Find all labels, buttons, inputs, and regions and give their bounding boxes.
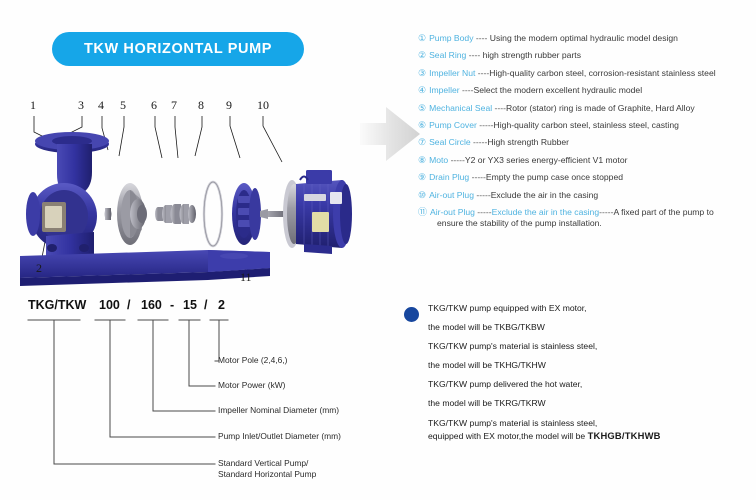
legend-dash: ----- (474, 190, 491, 200)
note-line-4: the model will be TKHG/TKHW (428, 360, 752, 371)
arrow-right-icon (358, 103, 422, 165)
legend-item-1: ① Pump Body ---- Using the modern optima… (418, 33, 752, 44)
legend-desc: High-quality carbon steel, stainless ste… (494, 120, 679, 130)
legend-term: Seal Ring (429, 50, 466, 60)
legend-desc: Rotor (stator) ring is made of Graphite,… (506, 103, 695, 113)
naming-leader-lines (14, 298, 400, 494)
callout-9: 9 (226, 98, 232, 113)
callout-5: 5 (120, 98, 126, 113)
right-arrow-separator (358, 103, 422, 165)
legend-desc: Empty the pump case once stopped (486, 172, 623, 182)
callout-10: 10 (257, 98, 269, 113)
naming-label-inlet-outlet: Pump Inlet/Outlet Diameter (mm) (218, 431, 341, 442)
pump-assembly-graphic (12, 96, 360, 286)
legend-dash: ----- (448, 155, 465, 165)
product-spec-page: TKW HORIZONTAL PUMP (0, 0, 756, 500)
legend-dash: ---- (474, 33, 490, 43)
naming-label-standard-1: Standard Vertical Pump/ (218, 458, 308, 469)
note-line-8-model: TKHGB/TKHWB (588, 430, 661, 441)
legend-desc: High strength Rubber (487, 137, 569, 147)
legend-dash: ----- (477, 120, 494, 130)
legend-term: Seal Circle (429, 137, 471, 147)
naming-label-motor-pole: Motor Pole (2,4,6,) (218, 355, 287, 366)
callout-2: 2 (36, 261, 42, 276)
legend-dash: ----- (475, 207, 492, 217)
callout-6: 6 (151, 98, 157, 113)
naming-label-impeller-dia: Impeller Nominal Diameter (mm) (218, 405, 339, 416)
parts-legend-list: ① Pump Body ---- Using the modern optima… (418, 33, 752, 236)
legend-term: Moto (429, 155, 448, 165)
callout-1: 1 (30, 98, 36, 113)
note-line-3: TKG/TKW pump's material is stainless ste… (428, 341, 752, 352)
legend-term: Air-out Plug (429, 190, 474, 200)
legend-item-6: ⑥ Pump Cover -----High-quality carbon st… (418, 120, 752, 131)
circled-number-icon: ⑤ (418, 103, 426, 114)
page-title-banner: TKW HORIZONTAL PUMP (52, 32, 304, 66)
legend-term: Drain Plug (429, 172, 469, 182)
legend-item-11: ⑪ Air-out Plug -----Exclude the air in t… (418, 207, 752, 230)
page-title: TKW HORIZONTAL PUMP (84, 41, 272, 57)
note-line-8: equipped with EX motor,the model will be… (428, 431, 752, 442)
legend-term: Pump Cover (429, 120, 477, 130)
legend-item-9: ⑨ Drain Plug -----Empty the pump case on… (418, 172, 752, 183)
legend-term: Pump Body (429, 33, 473, 43)
legend-dash: ---- (475, 68, 489, 78)
legend-dash: ---- (492, 103, 506, 113)
note-line-7: TKG/TKW pump's material is stainless ste… (428, 418, 752, 429)
legend-desc: Exclude the air in the casing (491, 190, 599, 200)
legend-desc: Y2 or YX3 series energy-efficient V1 mot… (465, 155, 628, 165)
legend-desc: Select the modern excellent hydraulic mo… (474, 85, 643, 95)
circled-number-icon: ② (418, 50, 426, 61)
legend-item-2: ② Seal Ring ---- high strength rubber pa… (418, 50, 752, 61)
circled-number-icon: ⑧ (418, 155, 426, 166)
legend-dash: ---- (460, 85, 474, 95)
note-line-5: TKG/TKW pump delivered the hot water, (428, 379, 752, 390)
callout-4: 4 (98, 98, 104, 113)
legend-desc: High-quality carbon steel, corrosion-res… (489, 68, 715, 78)
legend-item-10: ⑩ Air-out Plug -----Exclude the air in t… (418, 190, 752, 201)
legend-item-7: ⑦ Seal Circle -----High strength Rubber (418, 137, 752, 148)
legend-desc: high strength rubber parts (483, 50, 581, 60)
legend-dash-2: ----- (599, 207, 613, 217)
legend-dash: ----- (471, 137, 488, 147)
legend-desc: A fixed part of the pump to (613, 207, 713, 217)
circled-number-icon: ⑦ (418, 137, 426, 148)
note-line-8-prefix: equipped with EX motor,the model will be (428, 431, 588, 441)
model-variant-notes: TKG/TKW pump equipped with EX motor, the… (404, 303, 752, 450)
callout-7: 7 (171, 98, 177, 113)
legend-desc: Using the modern optimal hydraulic model… (490, 33, 678, 43)
legend-term: Mechanical Seal (429, 103, 492, 113)
legend-item-3: ③ Impeller Nut ----High-quality carbon s… (418, 68, 752, 79)
circled-number-icon: ① (418, 33, 426, 44)
bullet-dot-icon (404, 307, 419, 322)
note-line-1: TKG/TKW pump equipped with EX motor, (428, 303, 752, 314)
circled-number-icon: ④ (418, 85, 426, 96)
legend-dash: ---- (466, 50, 482, 60)
legend-item-5: ⑤ Mechanical Seal ----Rotor (stator) rin… (418, 103, 752, 114)
callout-11: 11 (240, 270, 252, 285)
legend-term: Air-out Plug (430, 207, 475, 217)
callout-8: 8 (198, 98, 204, 113)
legend-item-4: ④ Impeller ----Select the modern excelle… (418, 85, 752, 96)
naming-label-motor-power: Motor Power (kW) (218, 380, 285, 391)
circled-number-icon: ③ (418, 68, 426, 79)
legend-desc-blue: Exclude the air in the casing (492, 207, 600, 217)
legend-item-8: ⑧ Moto -----Y2 or YX3 series energy-effi… (418, 155, 752, 166)
callout-3: 3 (78, 98, 84, 113)
note-line-6: the model will be TKRG/TKRW (428, 398, 752, 409)
legend-term: Impeller (429, 85, 460, 95)
legend-term: Impeller Nut (429, 68, 475, 78)
legend-dash: ----- (469, 172, 486, 182)
circled-number-icon: ⑩ (418, 190, 426, 201)
exploded-pump-illustration: 1 2 3 4 5 6 7 8 9 10 11 (12, 96, 360, 286)
legend-desc-continued: ensure the stability of the pump install… (430, 218, 752, 230)
model-naming-convention: TKG/TKW 100 / 160 - 15 / 2 (14, 298, 400, 494)
circled-number-icon: ⑥ (418, 120, 426, 131)
naming-label-standard-2: Standard Horizontal Pump (218, 469, 316, 480)
note-line-2: the model will be TKBG/TKBW (428, 322, 752, 333)
circled-number-icon: ⑪ (418, 207, 427, 218)
circled-number-icon: ⑨ (418, 172, 426, 183)
